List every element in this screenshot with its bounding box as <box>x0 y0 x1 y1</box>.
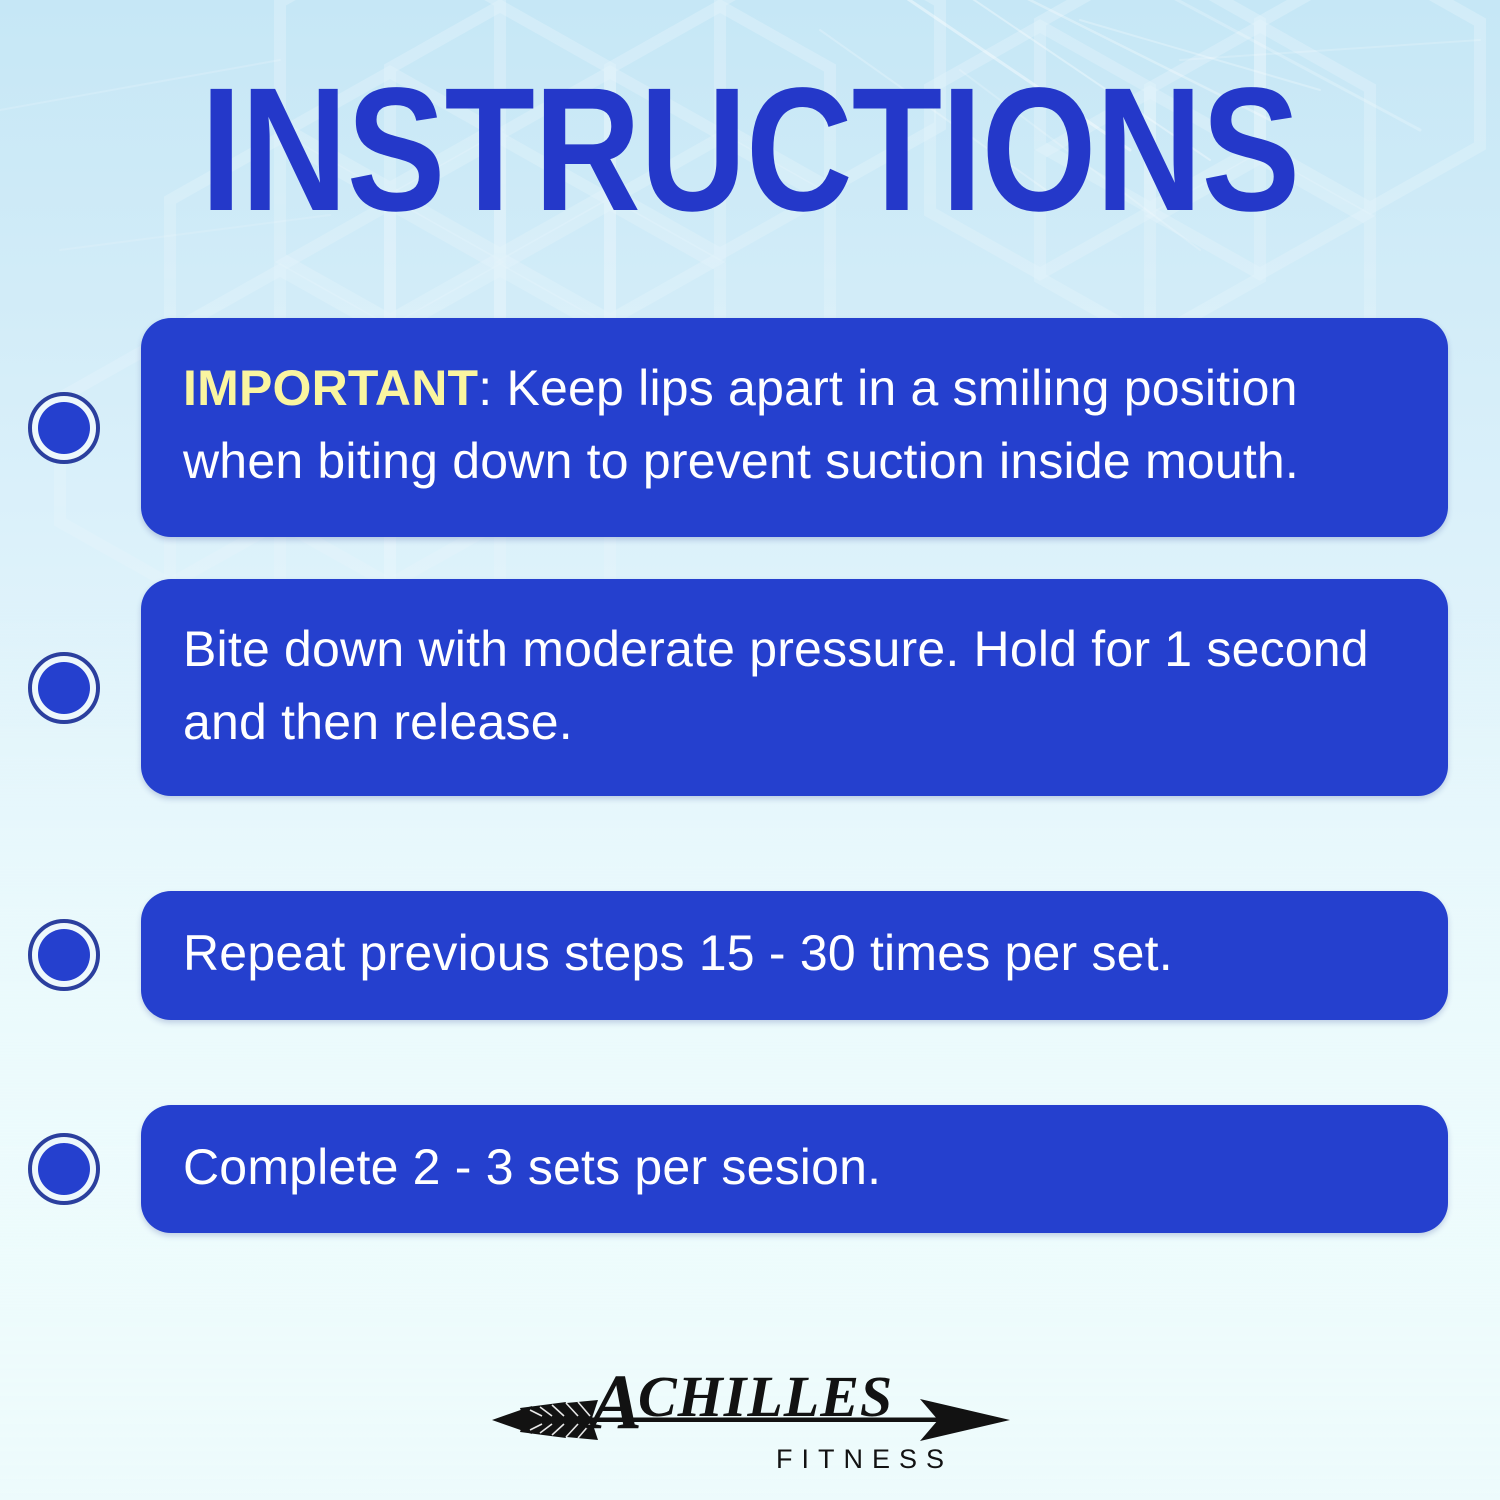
instructions-page: INSTRUCTIONS IMPORTANT: Keep lips apart … <box>0 0 1500 1500</box>
instruction-list: IMPORTANT: Keep lips apart in a smiling … <box>0 318 1500 1233</box>
bullet-dot <box>38 662 90 714</box>
brand-logo: A CHILLES FITNESS <box>0 1358 1500 1488</box>
important-label: IMPORTANT <box>183 360 478 416</box>
brand-name: CHILLES <box>638 1364 893 1429</box>
list-item[interactable]: Complete 2 - 3 sets per sesion. <box>0 1105 1500 1234</box>
instruction-text: Complete 2 - 3 sets per sesion. <box>183 1139 881 1195</box>
brand-tagline: FITNESS <box>776 1444 953 1474</box>
filled-circle-icon <box>28 1133 100 1205</box>
instruction-card[interactable]: Repeat previous steps 15 - 30 times per … <box>141 891 1448 1020</box>
instruction-card[interactable]: IMPORTANT: Keep lips apart in a smiling … <box>141 318 1448 537</box>
list-item[interactable]: Repeat previous steps 15 - 30 times per … <box>0 891 1500 1020</box>
bullet-dot <box>38 1143 90 1195</box>
list-item[interactable]: IMPORTANT: Keep lips apart in a smiling … <box>0 318 1500 537</box>
filled-circle-icon <box>28 392 100 464</box>
brand-initial: A <box>585 1358 642 1445</box>
list-item[interactable]: Bite down with moderate pressure. Hold f… <box>0 579 1500 796</box>
instruction-text: Repeat previous steps 15 - 30 times per … <box>183 925 1173 981</box>
instruction-card[interactable]: Bite down with moderate pressure. Hold f… <box>141 579 1448 796</box>
page-title: INSTRUCTIONS <box>120 62 1380 238</box>
bullet-dot <box>38 929 90 981</box>
bullet-dot <box>38 402 90 454</box>
instruction-card[interactable]: Complete 2 - 3 sets per sesion. <box>141 1105 1448 1234</box>
filled-circle-icon <box>28 919 100 991</box>
instruction-text: Bite down with moderate pressure. Hold f… <box>183 621 1369 750</box>
filled-circle-icon <box>28 652 100 724</box>
